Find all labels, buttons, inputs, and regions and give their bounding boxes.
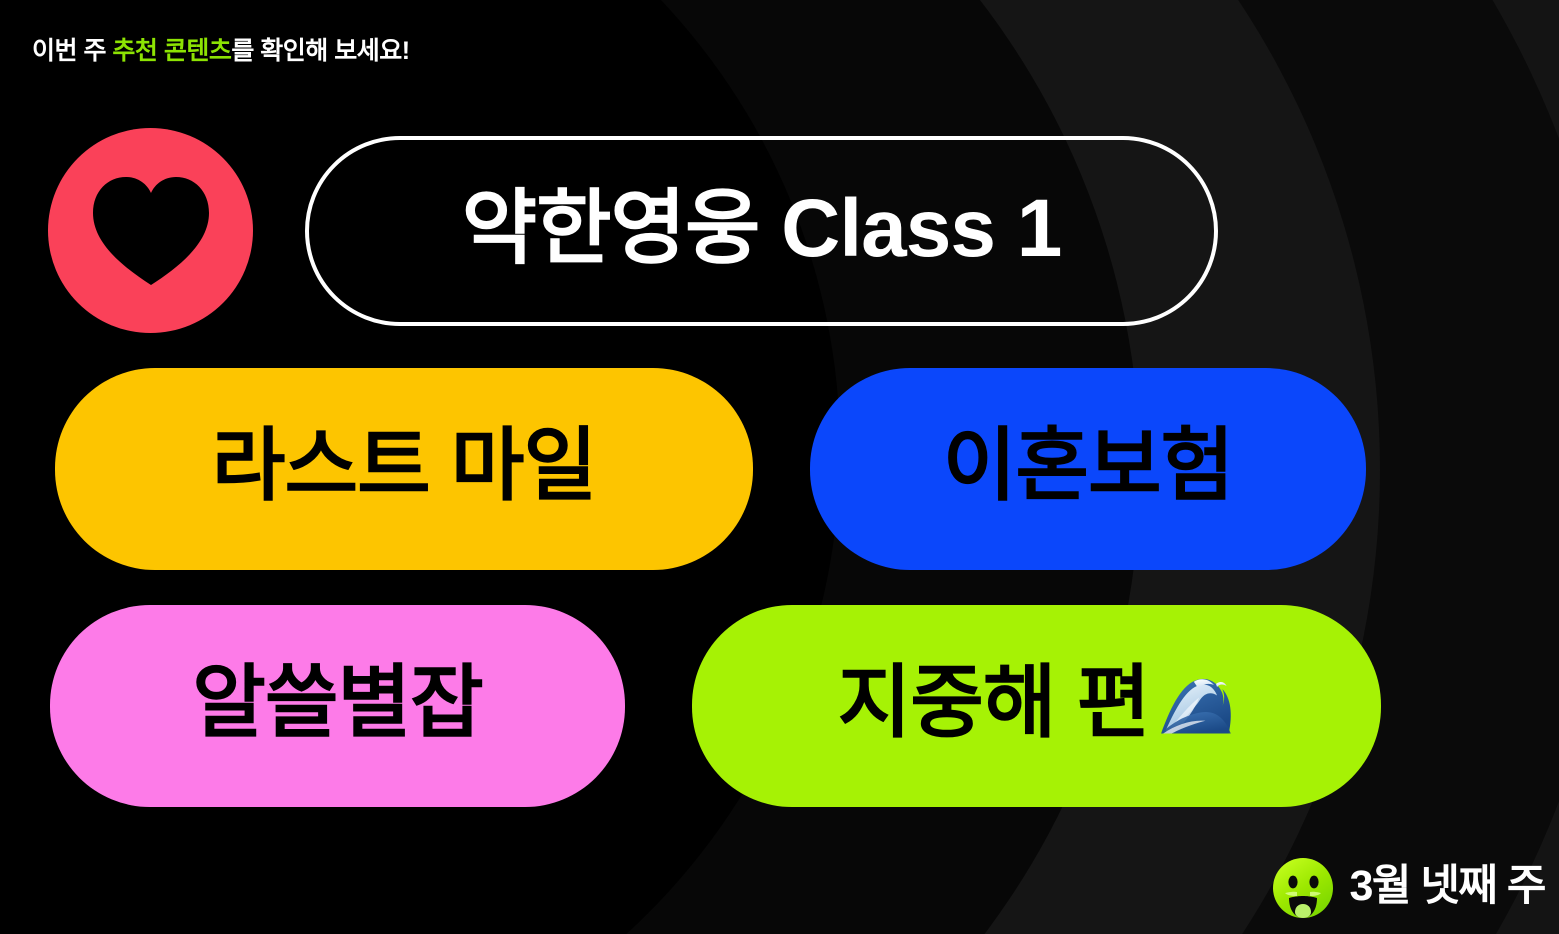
pill-last-mile-label: 라스트 마일 — [212, 426, 596, 506]
headline-prefix: 이번 주 — [32, 37, 112, 65]
pill-divorce-insurance[interactable]: 이혼보험 — [810, 368, 1366, 570]
headline-suffix: 를 확인해 보세요! — [231, 37, 409, 65]
heart-badge — [48, 128, 253, 333]
pill-alssulbyeoljap[interactable]: 알쓸별잡 — [50, 605, 625, 807]
week-label: 3월 넷째 주 — [1349, 865, 1545, 908]
banner-headline: 이번 주 추천 콘텐츠를 확인해 보세요! — [32, 31, 410, 67]
smiley-face-icon — [1271, 856, 1335, 920]
pill-alssulbyeoljap-label: 알쓸별잡 — [192, 663, 482, 743]
pill-divorce-insurance-label: 이혼보험 — [943, 426, 1233, 506]
featured-title-label: 약한영웅 Class 1 — [462, 188, 1062, 270]
featured-title-pill[interactable]: 약한영웅 Class 1 — [305, 136, 1218, 326]
promo-banner: 이번 주 추천 콘텐츠를 확인해 보세요! 약한영웅 Class 1 라스트 마… — [0, 0, 1559, 934]
pill-mediterranean-edition[interactable]: 지중해 편 — [692, 605, 1381, 807]
week-badge: 3월 넷째 주 — [1271, 856, 1545, 920]
headline-accent: 추천 콘텐츠 — [112, 37, 231, 65]
heart-icon — [89, 175, 213, 287]
pill-mediterranean-edition-label: 지중해 편 — [838, 663, 1150, 743]
wave-emoji-icon — [1159, 668, 1235, 744]
pill-last-mile[interactable]: 라스트 마일 — [55, 368, 753, 570]
